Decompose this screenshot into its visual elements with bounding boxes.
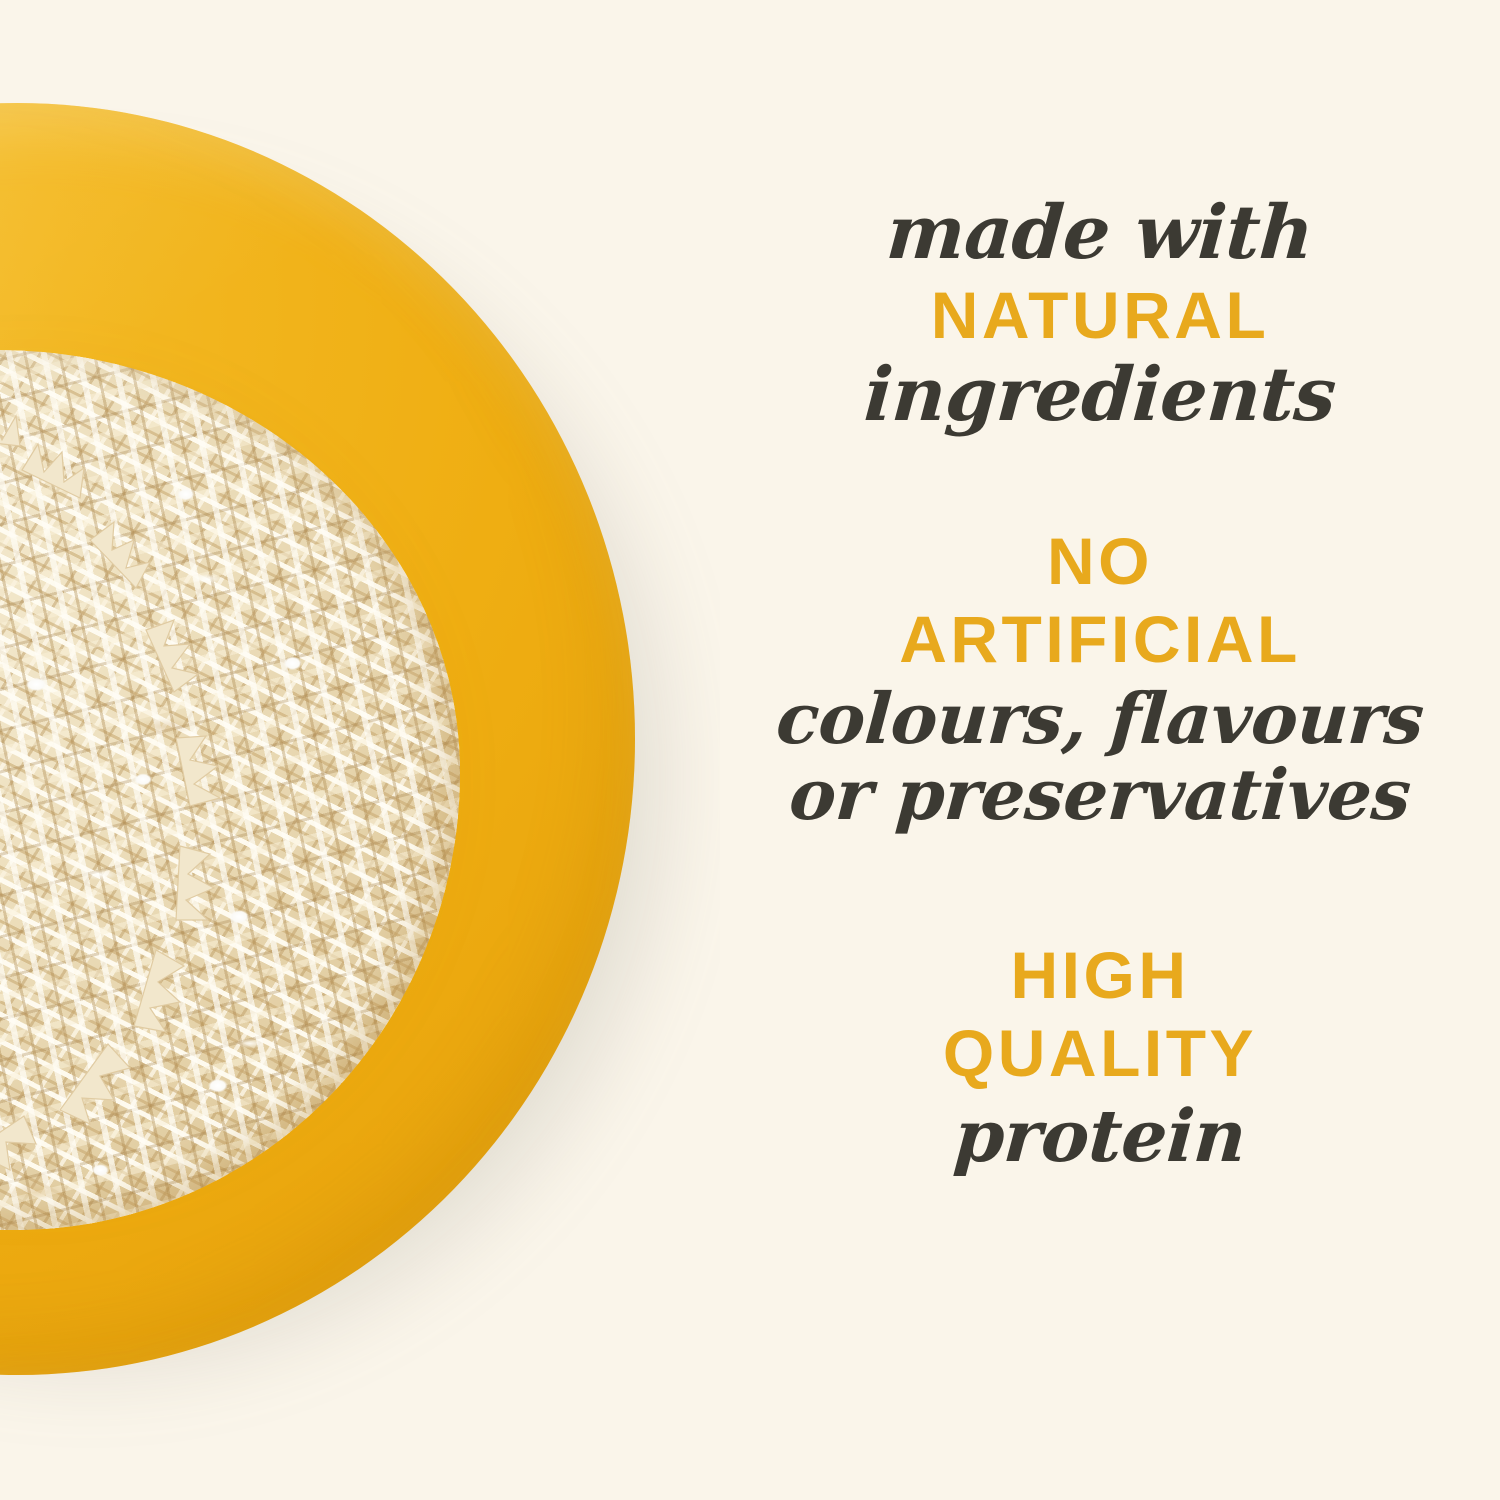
claim-line-made-with: made with [697, 196, 1500, 270]
claim-line-artificial: ARTIFICIAL [700, 606, 1500, 672]
claim-line-or-preservatives: or preservatives [698, 760, 1500, 830]
claim-line-high: HIGH [700, 942, 1500, 1008]
claim-line-colours-flavours: colours, flavours [698, 684, 1500, 754]
claim-line-quality: QUALITY [700, 1020, 1500, 1086]
rice-grains-layer [0, 350, 460, 1230]
shredded-chicken-and-rice [0, 350, 460, 1230]
claim-line-natural: NATURAL [700, 282, 1500, 348]
claim-high-quality-protein: HIGH QUALITY protein [700, 942, 1500, 1172]
claims-column: made with NATURAL ingredients NO ARTIFIC… [700, 0, 1500, 1500]
claim-line-ingredients: ingredients [697, 358, 1500, 432]
plate-photo [0, 0, 720, 1500]
claim-natural-ingredients: made with NATURAL ingredients [700, 196, 1500, 432]
claim-line-no: NO [700, 528, 1500, 594]
claim-line-protein: protein [697, 1100, 1500, 1172]
claim-no-artificial: NO ARTIFICIAL colours, flavours or prese… [700, 528, 1500, 830]
product-benefits-panel: made with NATURAL ingredients NO ARTIFIC… [0, 0, 1500, 1500]
